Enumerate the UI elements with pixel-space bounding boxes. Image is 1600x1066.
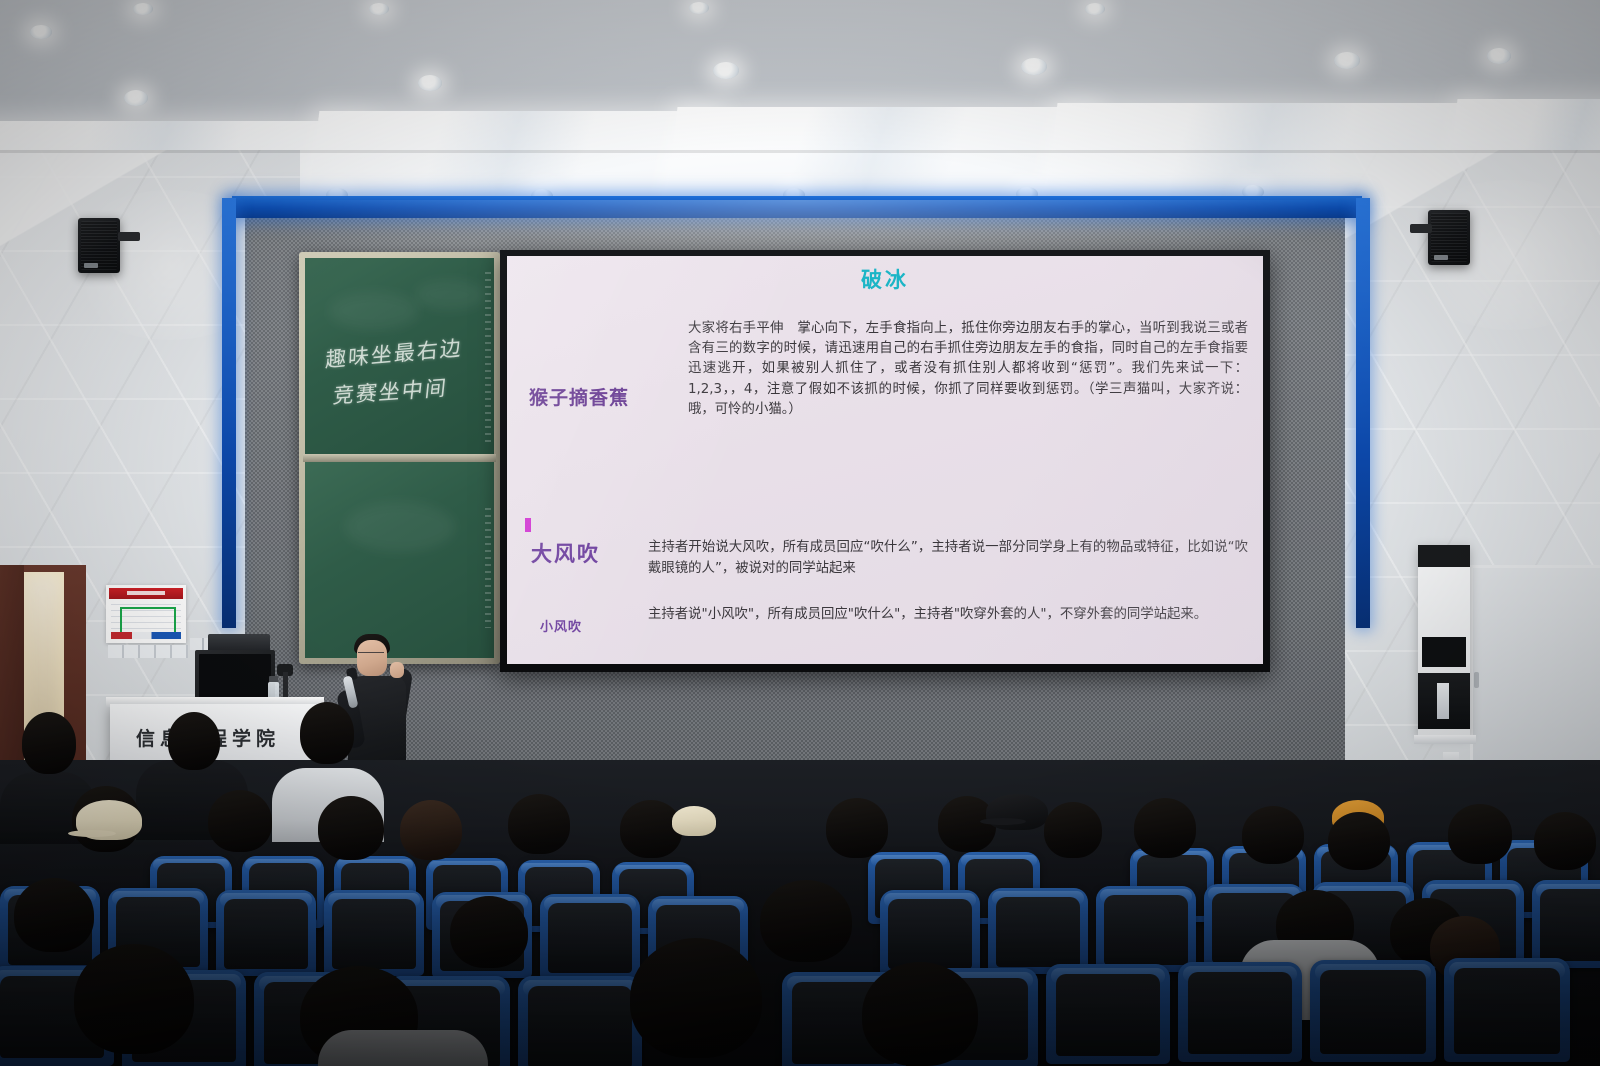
downlight-icon <box>1487 48 1511 64</box>
slide-glare <box>507 256 1263 664</box>
standing-person-head <box>22 712 76 774</box>
audience-head <box>1134 798 1196 858</box>
cabinet-shelf <box>1414 735 1476 744</box>
presenter-glasses-icon <box>358 652 384 659</box>
downlight-icon <box>1085 3 1105 15</box>
audience-shoulders <box>318 1030 488 1066</box>
door-panel[interactable] <box>0 565 24 780</box>
audience-head <box>1044 802 1102 858</box>
audience-head <box>74 944 194 1054</box>
audience-head <box>208 790 272 852</box>
audience-head <box>760 880 852 962</box>
cabinet-top-band <box>1418 545 1470 567</box>
audience-head <box>1328 812 1390 870</box>
audience-head <box>1448 804 1512 864</box>
wall-speaker-right <box>1428 210 1470 265</box>
standing-person-head <box>168 712 220 770</box>
poster-header <box>109 588 183 599</box>
downlight-icon <box>124 90 148 106</box>
audience-head <box>450 896 528 968</box>
blackboard-divider <box>303 454 496 462</box>
downlight-icon <box>418 75 442 91</box>
poster-footer-band <box>111 632 181 639</box>
blackboard-chalk-line-2: 竞赛坐中间 <box>332 372 450 410</box>
blackboard: 趣味坐最右边 竞赛坐中间 <box>299 252 500 664</box>
auditorium-photo: 趣味坐最右边 竞赛坐中间 破冰 猴子摘香蕉 大家将右手平伸 掌心向下，左手食指向… <box>0 0 1600 1066</box>
audience-head <box>1242 806 1304 864</box>
auditorium-seat[interactable] <box>1046 964 1170 1064</box>
cabinet-display-panel <box>1422 637 1466 667</box>
speaker-badge <box>1434 255 1448 260</box>
slide-cursor-marker <box>525 518 531 532</box>
wall-ceiling-joint <box>0 150 1600 153</box>
speaker-mount-left <box>118 232 140 241</box>
slide-section-body-monkey: 大家将右手平伸 掌心向下，左手食指向上，抵住你旁边朋友右手的掌心，当听到我说三或… <box>688 319 1248 420</box>
blackboard-upper-panel: 趣味坐最右边 竞赛坐中间 <box>305 258 494 454</box>
blue-led-strip-right <box>1356 198 1370 628</box>
evacuation-plan-poster <box>106 585 186 643</box>
auditorium-seat[interactable] <box>540 894 640 980</box>
slide-section-label-big-wind: 大风吹 <box>531 538 600 568</box>
wall-info-cards <box>108 645 188 658</box>
audience-head <box>862 962 978 1066</box>
cap-brim <box>980 818 1026 825</box>
auditorium-seat[interactable] <box>216 890 316 976</box>
auditorium-seat[interactable] <box>1096 886 1196 972</box>
monitor-screen <box>199 654 271 702</box>
slide-title: 破冰 <box>507 264 1263 294</box>
slide-section-label-monkey: 猴子摘香蕉 <box>529 383 629 410</box>
downlight-icon <box>133 3 153 15</box>
slide-section-body-big-wind: 主持者开始说大风吹，所有成员回应“吹什么”，主持者说一部分同学身上有的物品或特征… <box>648 538 1248 579</box>
blackboard-chalk-line-1: 趣味坐最右边 <box>324 332 463 374</box>
auditorium-seat[interactable] <box>1532 880 1600 968</box>
audience-head <box>630 938 762 1058</box>
auditorium-seat[interactable] <box>1444 958 1570 1062</box>
audience-head <box>1534 812 1596 870</box>
presenter-hand <box>390 662 404 678</box>
blue-led-strip-left <box>222 198 236 628</box>
downlight-icon <box>1021 58 1047 75</box>
downlight-icon <box>30 25 52 39</box>
poster-floorplan-outline <box>120 607 176 635</box>
audience-head <box>508 794 570 854</box>
blue-led-strip-top <box>232 196 1362 218</box>
downlight-icon <box>689 2 709 14</box>
auditorium-seat[interactable] <box>1310 960 1436 1062</box>
door-handle-icon[interactable] <box>1474 672 1479 688</box>
blackboard-edge-ticks <box>485 272 491 442</box>
blackboard-lower-panel <box>305 462 494 658</box>
auditorium-seat[interactable] <box>988 888 1088 974</box>
audience-head <box>318 796 384 860</box>
equipment-cabinet[interactable] <box>1418 545 1470 735</box>
slide-section-label-small-wind: 小风吹 <box>540 616 582 635</box>
downlight-icon <box>1334 52 1360 69</box>
slide-section-body-small-wind: 主持者说"小风吹"，所有成员回应"吹什么"，主持者"吹穿外套的人"，不穿外套的同… <box>648 605 1248 626</box>
downlight-icon <box>713 62 739 79</box>
blackboard-edge-ticks <box>485 508 491 628</box>
audience-head <box>826 798 888 858</box>
speaker-mount-right <box>1410 224 1432 233</box>
cabinet-slot <box>1437 683 1449 719</box>
side-door[interactable] <box>1470 565 1600 781</box>
audience-cap <box>672 806 716 836</box>
auditorium-seat[interactable] <box>1178 962 1302 1062</box>
downlight-icon <box>369 3 389 15</box>
auditorium-seat[interactable] <box>324 890 424 976</box>
wall-speaker-left <box>78 218 120 273</box>
standing-person-head <box>300 702 354 764</box>
audience-head <box>400 800 462 860</box>
cap-brim <box>68 830 116 837</box>
speaker-badge <box>84 263 98 268</box>
auditorium-seat[interactable] <box>518 976 642 1066</box>
presentation-slide[interactable]: 破冰 猴子摘香蕉 大家将右手平伸 掌心向下，左手食指向上，抵住你旁边朋友右手的掌… <box>507 256 1263 664</box>
audience-head <box>14 878 94 952</box>
